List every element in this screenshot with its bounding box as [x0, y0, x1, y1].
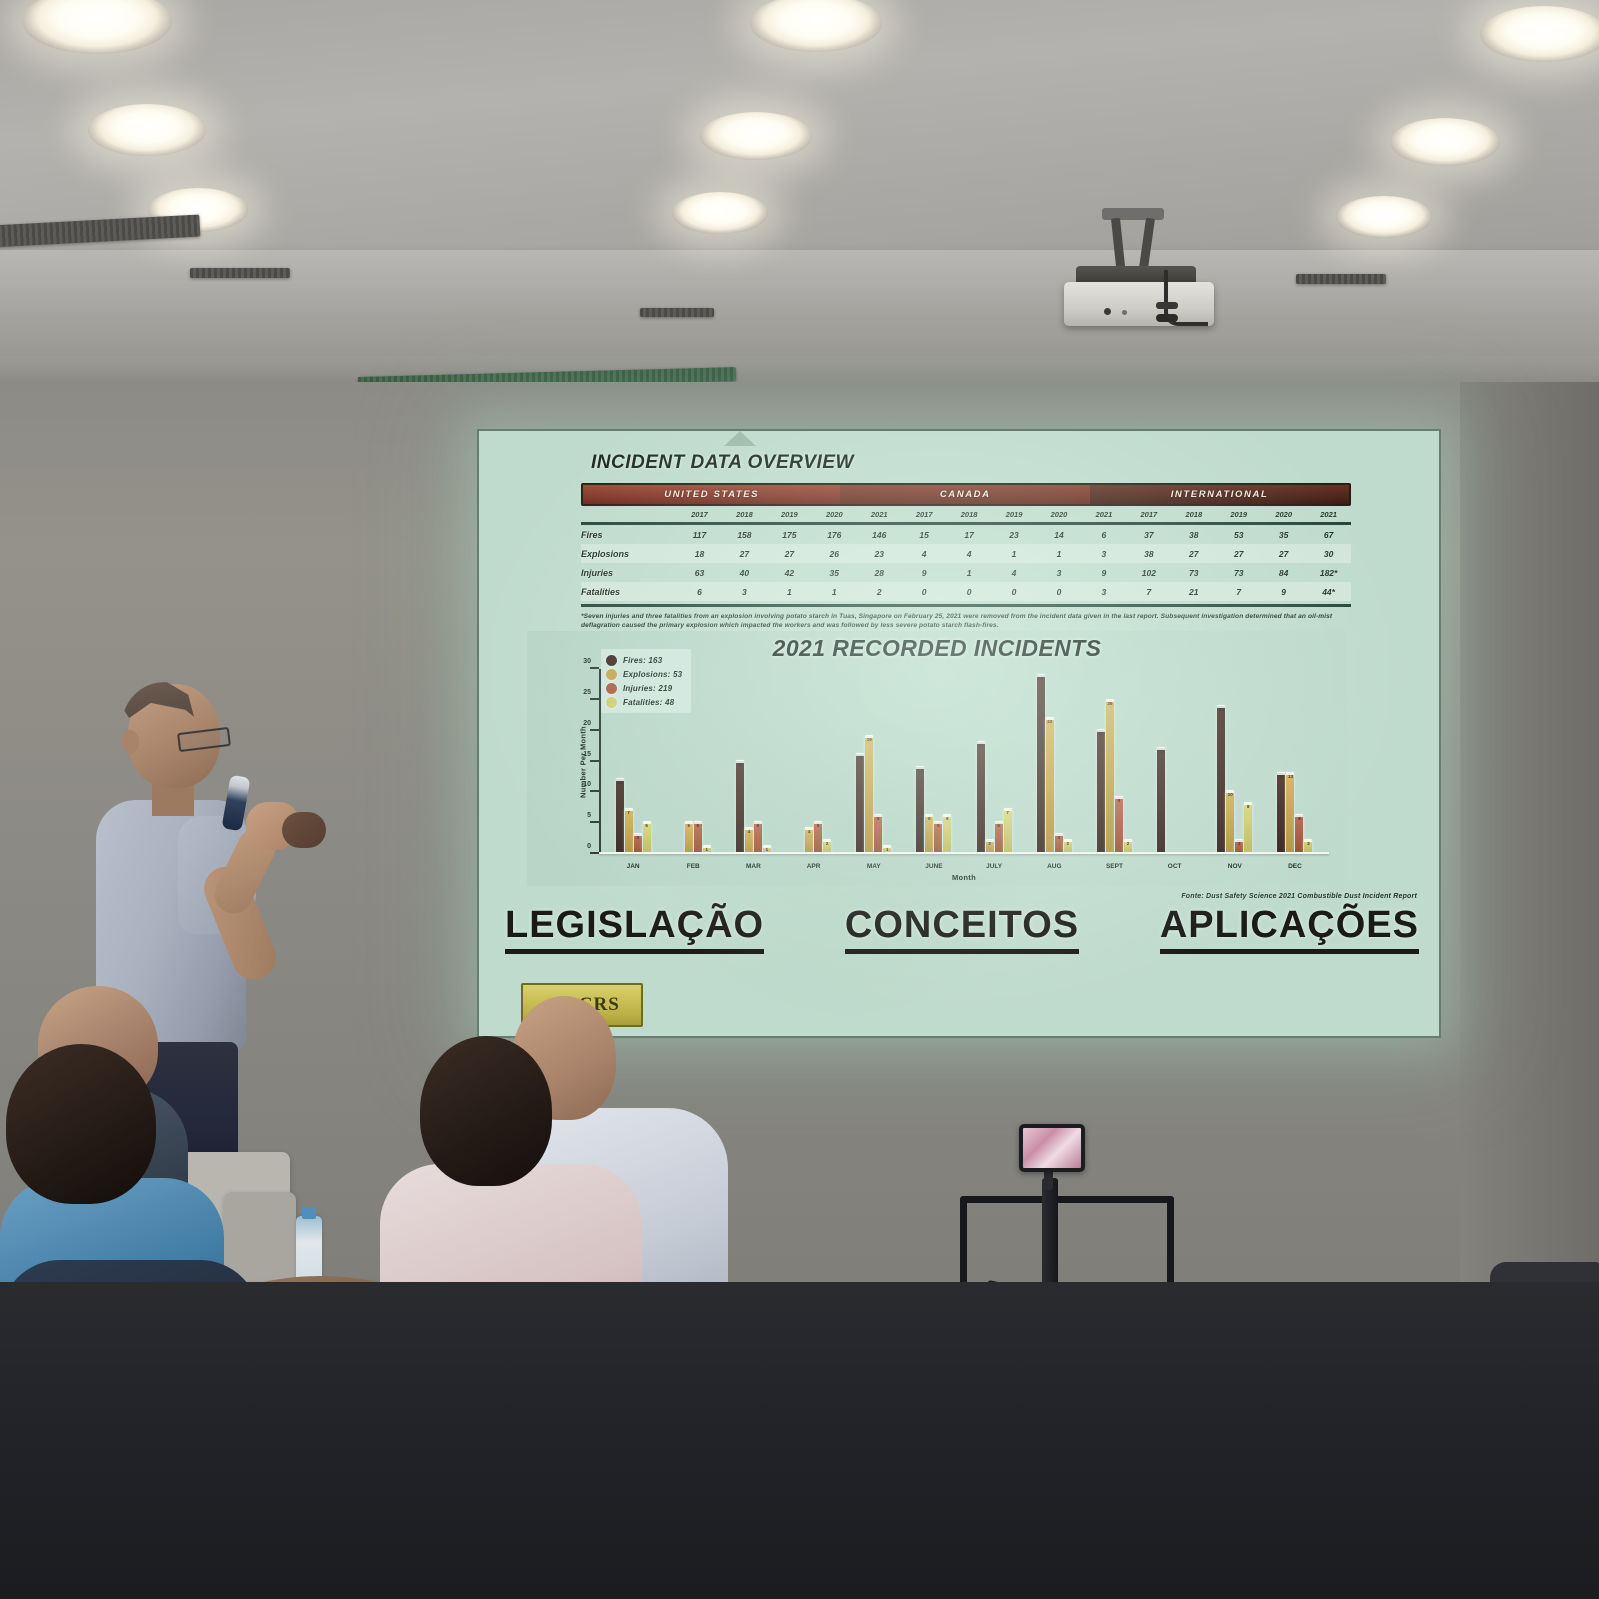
bar-fatalities: 2: [1064, 840, 1072, 852]
bar-fires: 12: [616, 779, 624, 852]
bar-injuries: 5: [694, 822, 702, 853]
ceiling-vent: [1296, 274, 1386, 284]
cell: 73: [1216, 568, 1261, 578]
cell: 40: [722, 568, 767, 578]
cell: 6: [1081, 530, 1126, 540]
bar-value-label: 6: [943, 816, 951, 821]
bar-value-label: 20: [1097, 731, 1105, 736]
cell: 1: [767, 587, 812, 597]
cell: 37: [1126, 530, 1171, 540]
year-cell: 2017: [902, 510, 947, 519]
slide-watermark-icon: [724, 431, 756, 446]
x-tick-label: APR: [784, 863, 844, 870]
bar-injuries: 5: [934, 822, 942, 853]
row-label: Injuries: [581, 568, 677, 578]
y-tick-label: 25: [569, 689, 591, 696]
legend-label: Explosions: 53: [623, 670, 682, 679]
legend-item: Fatalities: 48: [606, 695, 682, 709]
bar-value-label: 12: [616, 780, 624, 785]
year-cell: 2021: [1306, 510, 1351, 519]
photo-scene: INCIDENT DATA OVERVIEW UNITED STATES CAN…: [0, 0, 1599, 1599]
bar-injuries: 5: [995, 822, 1003, 853]
bar-group: 161961: [844, 669, 904, 852]
ceiling-light: [1390, 118, 1500, 166]
year-cell: 2018: [722, 510, 767, 519]
bar-value-label: 3: [1055, 835, 1063, 840]
bar-value-label: 19: [865, 737, 873, 742]
year-cell: 2019: [1216, 510, 1261, 519]
region-international: INTERNATIONAL: [1090, 485, 1349, 504]
y-tick-label: 15: [569, 751, 591, 758]
cell: 175: [767, 530, 812, 540]
bar-value-label: 29: [1037, 676, 1045, 681]
ceiling-light: [700, 112, 812, 160]
cell: 14: [1037, 530, 1082, 540]
bar-value-label: 6: [1295, 816, 1303, 821]
ceiling-vent: [190, 268, 290, 278]
bar-group: 241028: [1205, 669, 1265, 852]
bar-explosions: 4: [745, 828, 753, 852]
bar-group: 0452: [784, 669, 844, 852]
cell: 3: [722, 587, 767, 597]
cell: 26: [812, 549, 857, 559]
year-cell: 2018: [947, 510, 992, 519]
table-year-header: 2017 2018 2019 2020 2021 2017 2018 2019 …: [581, 510, 1351, 519]
bar-explosions: 4: [805, 828, 813, 852]
legend-item: Fires: 163: [606, 653, 682, 667]
bottle-cap: [302, 1207, 316, 1219]
table-footnote: *Seven injuries and three fatalities fro…: [581, 612, 1351, 630]
bar-value-label: 4: [745, 829, 753, 834]
x-tick-label: FEB: [663, 863, 723, 870]
table-row: Fatalities 6 3 1 1 2 0 0 0 0 3 7 21 7 9 …: [581, 582, 1351, 601]
cell: 38: [1171, 530, 1216, 540]
year-cell: 2021: [1081, 510, 1126, 519]
bar-value-label: 2: [1064, 841, 1072, 846]
bar-explosions: 7: [625, 809, 633, 852]
cell: 7: [1216, 587, 1261, 597]
cell: 158: [722, 530, 767, 540]
cell: 27: [1261, 549, 1306, 559]
bar-fatalities: 6: [943, 815, 951, 852]
bar-value-label: 8: [1244, 804, 1252, 809]
cell: 4: [902, 549, 947, 559]
row-label: Fatalities: [581, 587, 677, 597]
bar-value-label: 5: [643, 823, 651, 828]
cell: 1: [947, 568, 992, 578]
projector-port-icon: [1156, 302, 1178, 309]
cell: 117: [677, 530, 722, 540]
bar-fires: 13: [1277, 773, 1285, 852]
cell: 7: [1126, 587, 1171, 597]
year-cell: 2020: [1037, 510, 1082, 519]
bar-fires: 17: [1157, 748, 1165, 852]
projection-screen: INCIDENT DATA OVERVIEW UNITED STATES CAN…: [477, 429, 1441, 1038]
cell: 1: [1037, 549, 1082, 559]
cell: 182*: [1306, 568, 1351, 578]
bar-value-label: 17: [1157, 749, 1165, 754]
table-row: Injuries 63 40 42 35 28 9 1 4 3 9 102 73…: [581, 563, 1351, 582]
year-cell: 2017: [1126, 510, 1171, 519]
chart-plot-area: Number Per Month 0 5 10 15 20 25: [599, 669, 1329, 854]
right-wall: [1460, 382, 1599, 1312]
bar-value-label: 5: [685, 823, 693, 828]
y-tick-label: 20: [569, 720, 591, 727]
bar-value-label: 7: [1004, 810, 1012, 815]
bar-value-label: 1: [703, 847, 711, 852]
bar-value-label: 15: [736, 762, 744, 767]
cell: 3: [1081, 587, 1126, 597]
bar-value-label: 6: [925, 816, 933, 821]
cell: 21: [1171, 587, 1216, 597]
x-tick-label: SEPT: [1084, 863, 1144, 870]
bar-fatalities: 5: [643, 822, 651, 853]
bar-value-label: 16: [856, 755, 864, 760]
year-cell: 2018: [1171, 510, 1216, 519]
bar-explosions: 19: [865, 736, 873, 852]
cell: 9: [902, 568, 947, 578]
bar-value-label: 1: [763, 847, 771, 852]
ceiling-light: [1336, 196, 1432, 238]
cell: 3: [1037, 568, 1082, 578]
heading-conceitos: CONCEITOS: [845, 903, 1079, 954]
cell: 15: [902, 530, 947, 540]
cell: 42: [767, 568, 812, 578]
heading-legislacao: LEGISLAÇÃO: [505, 903, 764, 954]
cell: 0: [992, 587, 1037, 597]
bar-fires: 18: [977, 742, 985, 852]
bar-fires: 20: [1097, 730, 1105, 852]
bar-explosions: 22: [1046, 718, 1054, 852]
y-tick: [590, 760, 599, 762]
y-tick: [590, 729, 599, 731]
audience-head: [420, 1036, 552, 1186]
cell: 146: [857, 530, 902, 540]
x-tick-label: AUG: [1024, 863, 1084, 870]
y-tick: [590, 698, 599, 700]
legend-swatch-fatalities-icon: [606, 697, 617, 708]
bar-value-label: 5: [754, 823, 762, 828]
cell: 27: [1216, 549, 1261, 559]
ceiling-light: [672, 192, 768, 234]
bar-group: 131362: [1265, 669, 1325, 852]
ceiling-projector: [1060, 208, 1230, 338]
y-tick: [590, 821, 599, 823]
bar-fatalities: 8: [1244, 803, 1252, 852]
ceiling-edge: [0, 356, 1599, 384]
bar-injuries: 2: [1235, 840, 1243, 852]
bar-explosions: 6: [925, 815, 933, 852]
cell: 18: [677, 549, 722, 559]
cell: 28: [857, 568, 902, 578]
bar-value-label: 10: [1226, 792, 1234, 797]
y-tick-label: 30: [569, 658, 591, 665]
bar-fatalities: 2: [823, 840, 831, 852]
y-tick-label: 10: [569, 781, 591, 788]
legend-swatch-injuries-icon: [606, 683, 617, 694]
bar-fires: 16: [856, 754, 864, 852]
bar-fires: 24: [1217, 706, 1225, 852]
bar-fires: 14: [916, 767, 924, 852]
table-region-header: UNITED STATES CANADA INTERNATIONAL: [581, 483, 1351, 506]
bar-value-label: 18: [977, 743, 985, 748]
projector-port-icon: [1156, 314, 1178, 322]
cell: 1: [812, 587, 857, 597]
bar-value-label: 5: [814, 823, 822, 828]
cell: 35: [812, 568, 857, 578]
chart-legend: Fires: 163 Explosions: 53 Injuries: 219 …: [601, 649, 691, 713]
cell: 73: [1171, 568, 1216, 578]
bar-value-label: 6: [874, 816, 882, 821]
projector-indicator-icon: [1104, 308, 1111, 315]
x-tick-label: JAN: [603, 863, 663, 870]
bar-injuries: 3: [634, 834, 642, 852]
slide-headings: LEGISLAÇÃO CONCEITOS APLICAÇÕES: [505, 903, 1419, 954]
stage-floor: [0, 1282, 1599, 1599]
cell: 23: [992, 530, 1037, 540]
legend-item: Injuries: 219: [606, 681, 682, 695]
x-tick-label: DEC: [1265, 863, 1325, 870]
bar-value-label: 1: [883, 847, 891, 852]
cell: 6: [677, 587, 722, 597]
legend-swatch-explosions-icon: [606, 669, 617, 680]
ceiling-light: [1480, 6, 1599, 62]
bar-fires: 15: [736, 761, 744, 853]
bar-value-label: 2: [1304, 841, 1312, 846]
bar-fatalities: 1: [883, 846, 891, 852]
tripod-column: [1042, 1178, 1058, 1298]
bar-value-label: 2: [823, 841, 831, 846]
year-cell: 2021: [857, 510, 902, 519]
bar-value-label: 3: [634, 835, 642, 840]
x-tick-label: JULY: [964, 863, 1024, 870]
incidents-bar-chart: 2021 RECORDED INCIDENTS Number Per Month…: [527, 631, 1347, 886]
chart-bar-groups: 1273505511545104521619611465618257292232…: [603, 669, 1325, 852]
cell: 35: [1261, 530, 1306, 540]
presenter-ear: [122, 730, 139, 754]
bar-fatalities: 1: [703, 846, 711, 852]
bar-value-label: 5: [934, 823, 942, 828]
bar-value-label: 5: [694, 823, 702, 828]
y-tick: [590, 790, 599, 792]
bar-fatalities: 7: [1004, 809, 1012, 852]
bar-value-label: 2: [1235, 841, 1243, 846]
bar-value-label: 9: [1115, 798, 1123, 803]
row-label: Explosions: [581, 549, 677, 559]
y-tick-label: 5: [569, 812, 591, 819]
bar-value-label: 14: [916, 768, 924, 773]
cell: 84: [1261, 568, 1306, 578]
bar-value-label: 13: [1277, 774, 1285, 779]
cell: 0: [902, 587, 947, 597]
cell: 67: [1306, 530, 1351, 540]
y-tick-label: 0: [569, 843, 591, 850]
bar-explosions: 25: [1106, 700, 1114, 853]
bar-group: 14656: [904, 669, 964, 852]
projector-indicator-icon: [1122, 310, 1127, 315]
x-tick-label: MAR: [723, 863, 783, 870]
chart-x-axis: [599, 852, 1329, 854]
year-cell: 2017: [677, 510, 722, 519]
bar-group: 15451: [723, 669, 783, 852]
year-cell: 2019: [767, 510, 812, 519]
cell: 1: [992, 549, 1037, 559]
bar-value-label: 7: [625, 810, 633, 815]
bar-value-label: 2: [986, 841, 994, 846]
chart-x-axis-label: Month: [952, 873, 976, 882]
cell: 27: [1171, 549, 1216, 559]
x-tick-label: MAY: [844, 863, 904, 870]
bar-injuries: 3: [1055, 834, 1063, 852]
bar-group: 292232: [1024, 669, 1084, 852]
bar-injuries: 9: [1115, 797, 1123, 852]
presenter-hand-object: [282, 812, 326, 848]
bar-explosions: 2: [986, 840, 994, 852]
year-cell: 2020: [1261, 510, 1306, 519]
table-row: Fires 117 158 175 176 146 15 17 23 14 6 …: [581, 525, 1351, 544]
cell: 38: [1126, 549, 1171, 559]
incident-data-table: UNITED STATES CANADA INTERNATIONAL 2017 …: [581, 483, 1351, 630]
table-rule: [581, 604, 1351, 607]
cell: 44*: [1306, 587, 1351, 597]
y-tick: [590, 852, 599, 854]
bar-explosions: 13: [1286, 773, 1294, 852]
cell: 30: [1306, 549, 1351, 559]
bar-value-label: 24: [1217, 707, 1225, 712]
cell: 0: [1037, 587, 1082, 597]
cell: 9: [1261, 587, 1306, 597]
cell: 176: [812, 530, 857, 540]
cell: 53: [1216, 530, 1261, 540]
chart-source-note: Fonte: Dust Safety Science 2021 Combusti…: [1181, 893, 1417, 900]
bar-group: 202592: [1084, 669, 1144, 852]
bar-fatalities: 2: [1124, 840, 1132, 852]
cell: 102: [1126, 568, 1171, 578]
table-row: Explosions 18 27 27 26 23 4 4 1 1 3 38 2…: [581, 544, 1351, 563]
bar-fatalities: 2: [1304, 840, 1312, 852]
cell: 27: [767, 549, 812, 559]
legend-label: Fires: 163: [623, 656, 662, 665]
x-tick-label: NOV: [1205, 863, 1265, 870]
ceiling-vent: [640, 308, 714, 317]
bar-group: 18257: [964, 669, 1024, 852]
bar-value-label: 13: [1286, 774, 1294, 779]
bar-group: 17000: [1145, 669, 1205, 852]
cell: 0: [947, 587, 992, 597]
legend-swatch-fires-icon: [606, 655, 617, 666]
y-tick: [590, 667, 599, 669]
bar-explosions: 10: [1226, 791, 1234, 852]
cell: 4: [947, 549, 992, 559]
cell: 3: [1081, 549, 1126, 559]
x-tick-label: JUNE: [904, 863, 964, 870]
bar-value-label: 4: [805, 829, 813, 834]
region-united-states: UNITED STATES: [583, 485, 840, 504]
cell: 63: [677, 568, 722, 578]
cell: 23: [857, 549, 902, 559]
row-label: Fires: [581, 530, 677, 540]
bar-injuries: 5: [754, 822, 762, 853]
bar-explosions: 5: [685, 822, 693, 853]
cell: 2: [857, 587, 902, 597]
x-tick-label: OCT: [1145, 863, 1205, 870]
bar-injuries: 5: [814, 822, 822, 853]
bar-value-label: 5: [995, 823, 1003, 828]
region-canada: CANADA: [840, 485, 1090, 504]
year-cell: 2020: [812, 510, 857, 519]
ceiling-light: [88, 104, 206, 156]
heading-aplicacoes: APLICAÇÕES: [1160, 903, 1419, 954]
cell: 27: [722, 549, 767, 559]
bar-fatalities: 1: [763, 846, 771, 852]
bar-injuries: 6: [874, 815, 882, 852]
legend-label: Injuries: 219: [623, 684, 672, 693]
chart-x-tick-labels: JANFEBMARAPRMAYJUNEJULYAUGSEPTOCTNOVDEC: [603, 863, 1325, 870]
cell: 4: [992, 568, 1037, 578]
legend-item: Explosions: 53: [606, 667, 682, 681]
bar-injuries: 6: [1295, 815, 1303, 852]
cell: 9: [1081, 568, 1126, 578]
bar-value-label: 25: [1106, 701, 1114, 706]
bar-value-label: 2: [1124, 841, 1132, 846]
smartphone-camera[interactable]: [1019, 1124, 1085, 1172]
year-cell: 2019: [992, 510, 1037, 519]
cell: 17: [947, 530, 992, 540]
bar-value-label: 22: [1046, 719, 1054, 724]
slide-section-title: INCIDENT DATA OVERVIEW: [591, 452, 1413, 474]
bar-fires: 29: [1037, 675, 1045, 852]
legend-label: Fatalities: 48: [623, 698, 674, 707]
